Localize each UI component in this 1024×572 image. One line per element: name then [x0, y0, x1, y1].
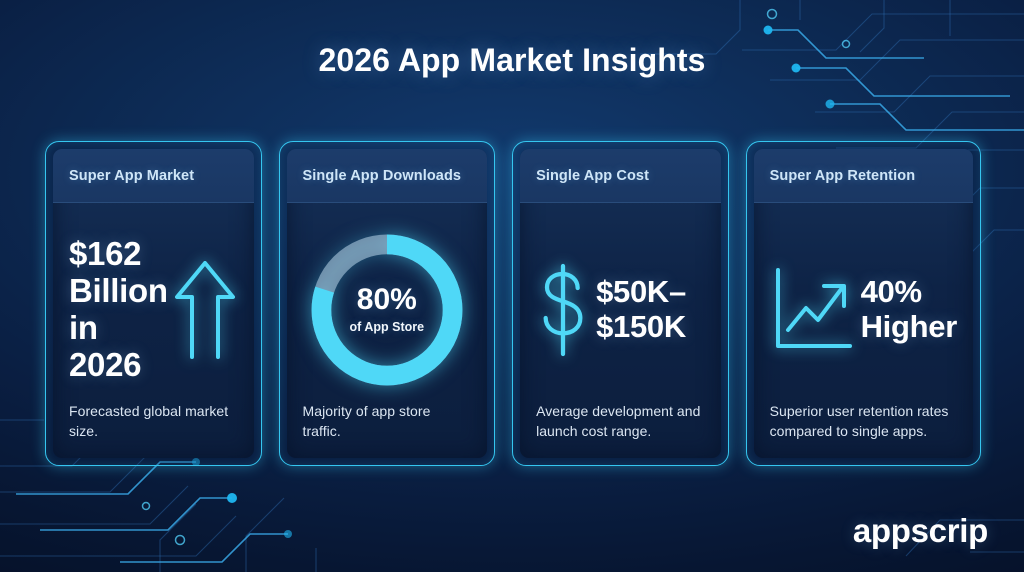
card-caption: Majority of app store traffic. — [303, 402, 472, 442]
card-caption: Forecasted global market size. — [69, 402, 238, 442]
card-value-line: $162 — [69, 236, 170, 273]
card-title: Single App Cost — [536, 168, 649, 184]
card-hero: $162 Billion in 2026 — [69, 217, 238, 402]
card-title: Super App Retention — [770, 168, 916, 184]
card-value-line: Billion — [69, 273, 170, 310]
card-body: $50K– $150K Average development and laun… — [520, 203, 721, 458]
card-value-line: 40% — [861, 275, 957, 310]
card-hero: $50K– $150K — [536, 217, 705, 402]
card-value: $50K– $150K — [596, 275, 686, 344]
card-title: Single App Downloads — [303, 168, 462, 184]
donut-chart-icon: 80% of App Store — [303, 217, 472, 402]
card-body: $162 Billion in 2026 Forecasted global m… — [53, 203, 254, 458]
stat-card-single-app-cost[interactable]: Single App Cost $50K– $150K — [512, 141, 729, 466]
infographic-canvas: 2026 App Market Insights Super App Marke… — [0, 0, 1024, 572]
trending-up-chart-icon — [770, 264, 854, 356]
stat-card-single-app-downloads[interactable]: Single App Downloads 80% of App Store — [279, 141, 496, 466]
card-header: Super App Market — [53, 149, 254, 203]
stat-card-super-app-retention[interactable]: Super App Retention 40% — [746, 141, 981, 466]
appscrip-logo: appscrip — [853, 512, 988, 550]
card-value: $162 Billion in 2026 — [69, 236, 170, 384]
page-title: 2026 App Market Insights — [0, 42, 1024, 79]
stat-card-grid: Super App Market $162 Billion in 2026 — [45, 141, 981, 466]
card-value-line: Higher — [861, 310, 957, 345]
card-value-line: $150K — [596, 310, 686, 345]
card-value-line: $50K– — [596, 275, 686, 310]
arrow-up-icon — [172, 257, 238, 363]
card-body: 40% Higher Superior user retention rates… — [754, 203, 973, 458]
dollar-sign-icon — [536, 262, 590, 358]
card-value: 40% Higher — [861, 275, 957, 344]
card-header: Single App Downloads — [287, 149, 488, 203]
card-header: Super App Retention — [754, 149, 973, 203]
card-body: 80% of App Store Majority of app store t… — [287, 203, 488, 458]
card-caption: Superior user retention rates compared t… — [770, 402, 957, 442]
card-hero: 40% Higher — [770, 217, 957, 402]
stat-card-super-app-market[interactable]: Super App Market $162 Billion in 2026 — [45, 141, 262, 466]
card-value-line: in 2026 — [69, 310, 170, 384]
card-caption: Average development and launch cost rang… — [536, 402, 705, 442]
card-title: Super App Market — [69, 168, 194, 184]
card-header: Single App Cost — [520, 149, 721, 203]
